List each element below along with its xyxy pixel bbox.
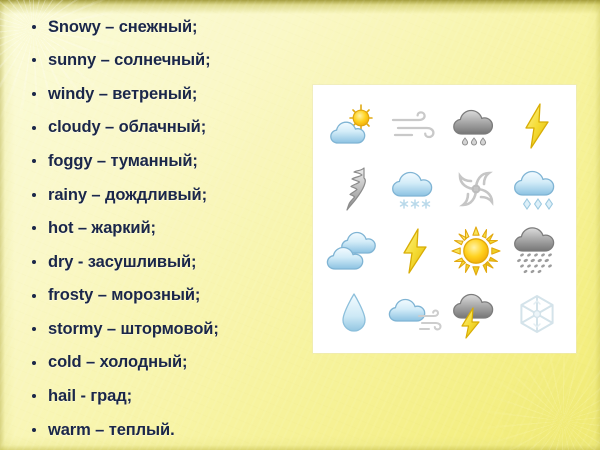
icon-cell-tornado bbox=[323, 158, 384, 221]
icon-cell-sun bbox=[446, 220, 507, 283]
icon-cell-lightning-2 bbox=[384, 220, 445, 283]
water-drop-icon bbox=[340, 292, 368, 336]
sun-icon bbox=[451, 226, 501, 276]
heavy-rain-cloud-icon bbox=[510, 225, 564, 277]
list-item-hot: hot – жаркий; bbox=[26, 212, 304, 246]
vocab-text: foggy – туманный; bbox=[48, 153, 198, 170]
vocab-text: frosty – морозный; bbox=[48, 287, 200, 304]
vocabulary-list: Snowy – снежный; sunny – солнечный; wind… bbox=[26, 10, 304, 447]
wind-swirl-icon bbox=[390, 109, 440, 143]
icon-cell-thunderstorm bbox=[446, 283, 507, 346]
thunderstorm-cloud-icon bbox=[449, 289, 503, 339]
icon-cell-hurricane bbox=[446, 158, 507, 221]
vocab-text: windy – ветреный; bbox=[48, 86, 197, 103]
vocab-text: sunny – солнечный; bbox=[48, 52, 210, 69]
icon-cell-sun-behind-cloud bbox=[323, 95, 384, 158]
hail-cloud-icon bbox=[510, 164, 564, 214]
windy-cloud-icon bbox=[386, 294, 444, 334]
lightning-bolt-icon bbox=[401, 228, 429, 274]
vocab-text: warm – теплый. bbox=[48, 422, 175, 439]
list-item-rainy: rainy – дождливый; bbox=[26, 178, 304, 212]
snow-cloud-icon bbox=[388, 164, 442, 214]
vocab-text: dry - засушливый; bbox=[48, 254, 196, 271]
icon-cell-water-drop bbox=[323, 283, 384, 346]
icon-cell-snowflake bbox=[507, 283, 568, 346]
snowflake-icon bbox=[516, 293, 558, 335]
slide-canvas: Snowy – снежный; sunny – солнечный; wind… bbox=[0, 0, 600, 450]
list-item-hail: hail - град; bbox=[26, 380, 304, 414]
list-item-dry: dry - засушливый; bbox=[26, 245, 304, 279]
icon-cell-lightning-1 bbox=[507, 95, 568, 158]
sun-behind-cloud-icon bbox=[328, 103, 380, 149]
overcast-clouds-icon bbox=[325, 229, 383, 273]
list-item-cloudy: cloudy – облачный; bbox=[26, 111, 304, 145]
icon-cell-rain-cloud bbox=[446, 95, 507, 158]
icon-cell-snow-cloud bbox=[384, 158, 445, 221]
lightning-bolt-icon bbox=[523, 103, 551, 149]
weather-icon-panel bbox=[313, 85, 576, 353]
rain-cloud-icon bbox=[450, 101, 502, 151]
tornado-icon bbox=[337, 164, 371, 214]
vocab-text: Snowy – снежный; bbox=[48, 19, 197, 36]
list-item-windy: windy – ветреный; bbox=[26, 77, 304, 111]
vocab-text: hot – жаркий; bbox=[48, 220, 156, 237]
list-item-frosty: frosty – морозный; bbox=[26, 279, 304, 313]
list-item-cold: cold – холодный; bbox=[26, 346, 304, 380]
list-item-snowy: Snowy – снежный; bbox=[26, 10, 304, 44]
weather-icon-grid bbox=[323, 95, 568, 345]
list-item-foggy: foggy – туманный; bbox=[26, 144, 304, 178]
icon-cell-windy-cloud bbox=[384, 283, 445, 346]
list-item-sunny: sunny – солнечный; bbox=[26, 44, 304, 78]
list-item-warm: warm – теплый. bbox=[26, 413, 304, 447]
vocab-text: hail - град; bbox=[48, 388, 132, 405]
list-item-stormy: stormy – штормовой; bbox=[26, 312, 304, 346]
icon-cell-wind bbox=[384, 95, 445, 158]
icon-cell-overcast-clouds bbox=[323, 220, 384, 283]
vocab-text: cold – холодный; bbox=[48, 354, 187, 371]
hurricane-spiral-icon bbox=[454, 167, 498, 211]
vocab-text: cloudy – облачный; bbox=[48, 119, 206, 136]
vocab-text: stormy – штормовой; bbox=[48, 321, 219, 338]
icon-cell-heavy-rain bbox=[507, 220, 568, 283]
vocab-text: rainy – дождливый; bbox=[48, 187, 207, 204]
icon-cell-hail-cloud bbox=[507, 158, 568, 221]
